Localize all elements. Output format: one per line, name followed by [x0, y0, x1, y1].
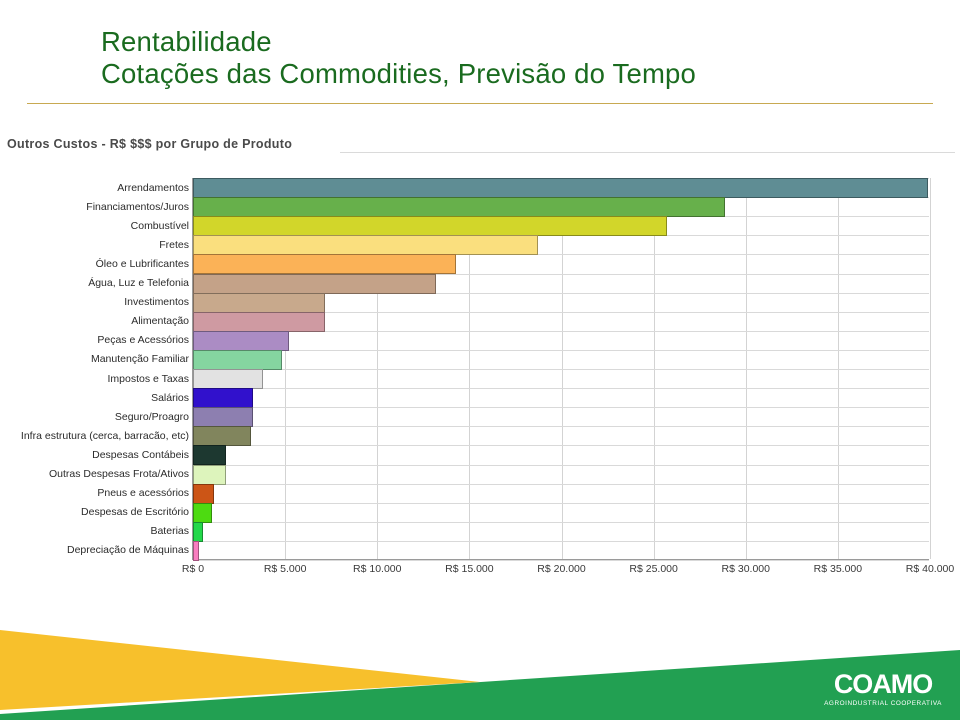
bar[interactable]: [193, 541, 199, 561]
chart-title: Outros Custos - R$ $$$ por Grupo de Prod…: [7, 137, 292, 151]
category-label: Pneus e acessórios: [3, 483, 189, 503]
bar-row[interactable]: [193, 178, 930, 198]
coamo-logo: COAMO AGROINDUSTRIAL COOPERATIVA: [824, 671, 942, 708]
category-label: Alimentação: [3, 311, 189, 331]
x-axis-tick-label: R$ 35.000: [814, 563, 862, 575]
bar[interactable]: [193, 426, 251, 446]
title-divider: [27, 103, 933, 104]
x-axis-tick-label: R$ 10.000: [353, 563, 401, 575]
bar[interactable]: [193, 503, 212, 523]
bar-row[interactable]: [193, 293, 930, 313]
category-label: Combustível: [3, 216, 189, 236]
coamo-tagline: AGROINDUSTRIAL COOPERATIVA: [824, 699, 942, 708]
category-label: Baterias: [3, 521, 189, 541]
category-label: Investimentos: [3, 292, 189, 312]
bar[interactable]: [193, 216, 667, 236]
category-label: Água, Luz e Telefonia: [3, 273, 189, 293]
category-label: Despesas de Escritório: [3, 502, 189, 522]
x-axis-tick-label: R$ 5.000: [264, 563, 307, 575]
bar-row[interactable]: [193, 445, 930, 465]
x-axis-tick-label: R$ 0: [182, 563, 204, 575]
bar[interactable]: [193, 274, 436, 294]
bar[interactable]: [193, 178, 928, 198]
x-axis-tick-label: R$ 25.000: [629, 563, 677, 575]
page-title: Rentabilidade Cotações das Commodities, …: [101, 26, 696, 90]
x-axis-tick-label: R$ 30.000: [722, 563, 770, 575]
category-label: Despesas Contábeis: [3, 445, 189, 465]
coamo-wordmark: COAMO: [824, 671, 942, 698]
bar-row[interactable]: [193, 541, 930, 561]
category-label: Óleo e Lubrificantes: [3, 254, 189, 274]
x-axis-tick-label: R$ 15.000: [445, 563, 493, 575]
bar-row[interactable]: [193, 350, 930, 370]
bar[interactable]: [193, 235, 538, 255]
slide-header: Rentabilidade Cotações das Commodities, …: [0, 0, 960, 110]
bar[interactable]: [193, 197, 725, 217]
bar-chart-plot-area: ArrendamentosFinanciamentos/JurosCombust…: [192, 178, 929, 560]
bar-row[interactable]: [193, 465, 930, 485]
bar-row[interactable]: [193, 369, 930, 389]
bar[interactable]: [193, 369, 263, 389]
bar-row[interactable]: [193, 216, 930, 236]
bar-row[interactable]: [193, 197, 930, 217]
bar[interactable]: [193, 312, 325, 332]
bar-row[interactable]: [193, 254, 930, 274]
bar-row[interactable]: [193, 407, 930, 427]
category-label: Infra estrutura (cerca, barracão, etc): [3, 426, 189, 446]
category-label: Financiamentos/Juros: [3, 197, 189, 217]
category-label: Impostos e Taxas: [3, 369, 189, 389]
chart-card: Outros Custos - R$ $$$ por Grupo de Prod…: [0, 125, 960, 595]
bar-row[interactable]: [193, 274, 930, 294]
x-axis-tick-label: R$ 40.000: [906, 563, 954, 575]
bar[interactable]: [193, 484, 214, 504]
bar[interactable]: [193, 445, 226, 465]
category-label: Peças e Acessórios: [3, 330, 189, 350]
bar-row[interactable]: [193, 388, 930, 408]
slide-footer: COAMO AGROINDUSTRIAL COOPERATIVA: [0, 610, 960, 720]
bar-row[interactable]: [193, 331, 930, 351]
chart-title-divider: [340, 152, 955, 153]
category-label: Fretes: [3, 235, 189, 255]
bar-row[interactable]: [193, 312, 930, 332]
category-label: Depreciação de Máquinas: [3, 540, 189, 560]
page-title-line-1: Rentabilidade: [101, 26, 696, 58]
category-label: Seguro/Proagro: [3, 407, 189, 427]
bar[interactable]: [193, 254, 456, 274]
bar-row[interactable]: [193, 426, 930, 446]
footer-decoration: [0, 610, 960, 720]
bar-row[interactable]: [193, 522, 930, 542]
category-label: Salários: [3, 388, 189, 408]
bar[interactable]: [193, 350, 282, 370]
bar[interactable]: [193, 293, 325, 313]
category-label: Outras Despesas Frota/Ativos: [3, 464, 189, 484]
bar[interactable]: [193, 465, 226, 485]
page-title-line-2: Cotações das Commodities, Previsão do Te…: [101, 58, 696, 90]
bar[interactable]: [193, 331, 289, 351]
bar-row[interactable]: [193, 235, 930, 255]
bar-row[interactable]: [193, 503, 930, 523]
bar[interactable]: [193, 522, 203, 542]
x-gridline: [930, 178, 931, 559]
bar[interactable]: [193, 407, 253, 427]
category-label: Manutenção Familiar: [3, 349, 189, 369]
bar-row[interactable]: [193, 484, 930, 504]
bar[interactable]: [193, 388, 253, 408]
x-axis-tick-label: R$ 20.000: [537, 563, 585, 575]
category-label: Arrendamentos: [3, 178, 189, 198]
